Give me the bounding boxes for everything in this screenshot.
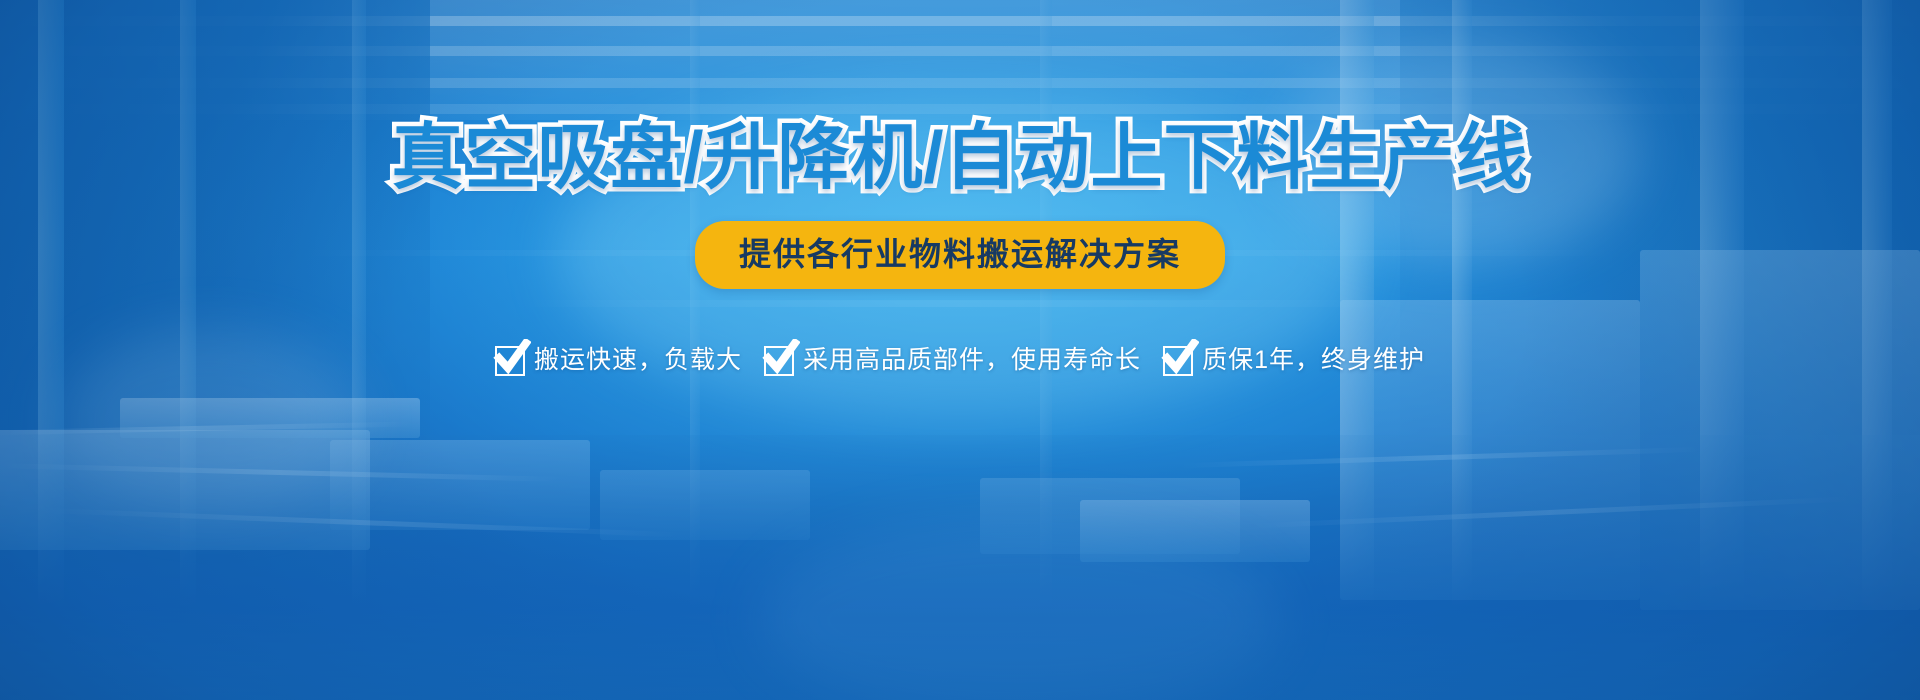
checkmark-icon: [764, 346, 794, 376]
feature-item: 采用高品质部件，使用寿命长: [764, 346, 1141, 376]
checkmark-icon: [495, 346, 525, 376]
feature-label: 质保1年，终身维护: [1202, 348, 1425, 373]
hero-banner: 真空吸盘/升降机/自动上下料生产线 提供各行业物料搬运解决方案 搬运快速，负载大…: [0, 0, 1920, 700]
banner-tagline-badge: 提供各行业物料搬运解决方案: [695, 221, 1225, 289]
feature-label: 采用高品质部件，使用寿命长: [803, 348, 1141, 373]
feature-item: 搬运快速，负载大: [495, 346, 742, 376]
feature-list: 搬运快速，负载大 采用高品质部件，使用寿命长 质保1年，终身维护: [495, 346, 1425, 376]
checkmark-icon: [1163, 346, 1193, 376]
feature-item: 质保1年，终身维护: [1163, 346, 1425, 376]
feature-label: 搬运快速，负载大: [534, 348, 742, 373]
banner-headline: 真空吸盘/升降机/自动上下料生产线: [391, 118, 1528, 199]
banner-content: 真空吸盘/升降机/自动上下料生产线 提供各行业物料搬运解决方案 搬运快速，负载大…: [0, 0, 1920, 700]
